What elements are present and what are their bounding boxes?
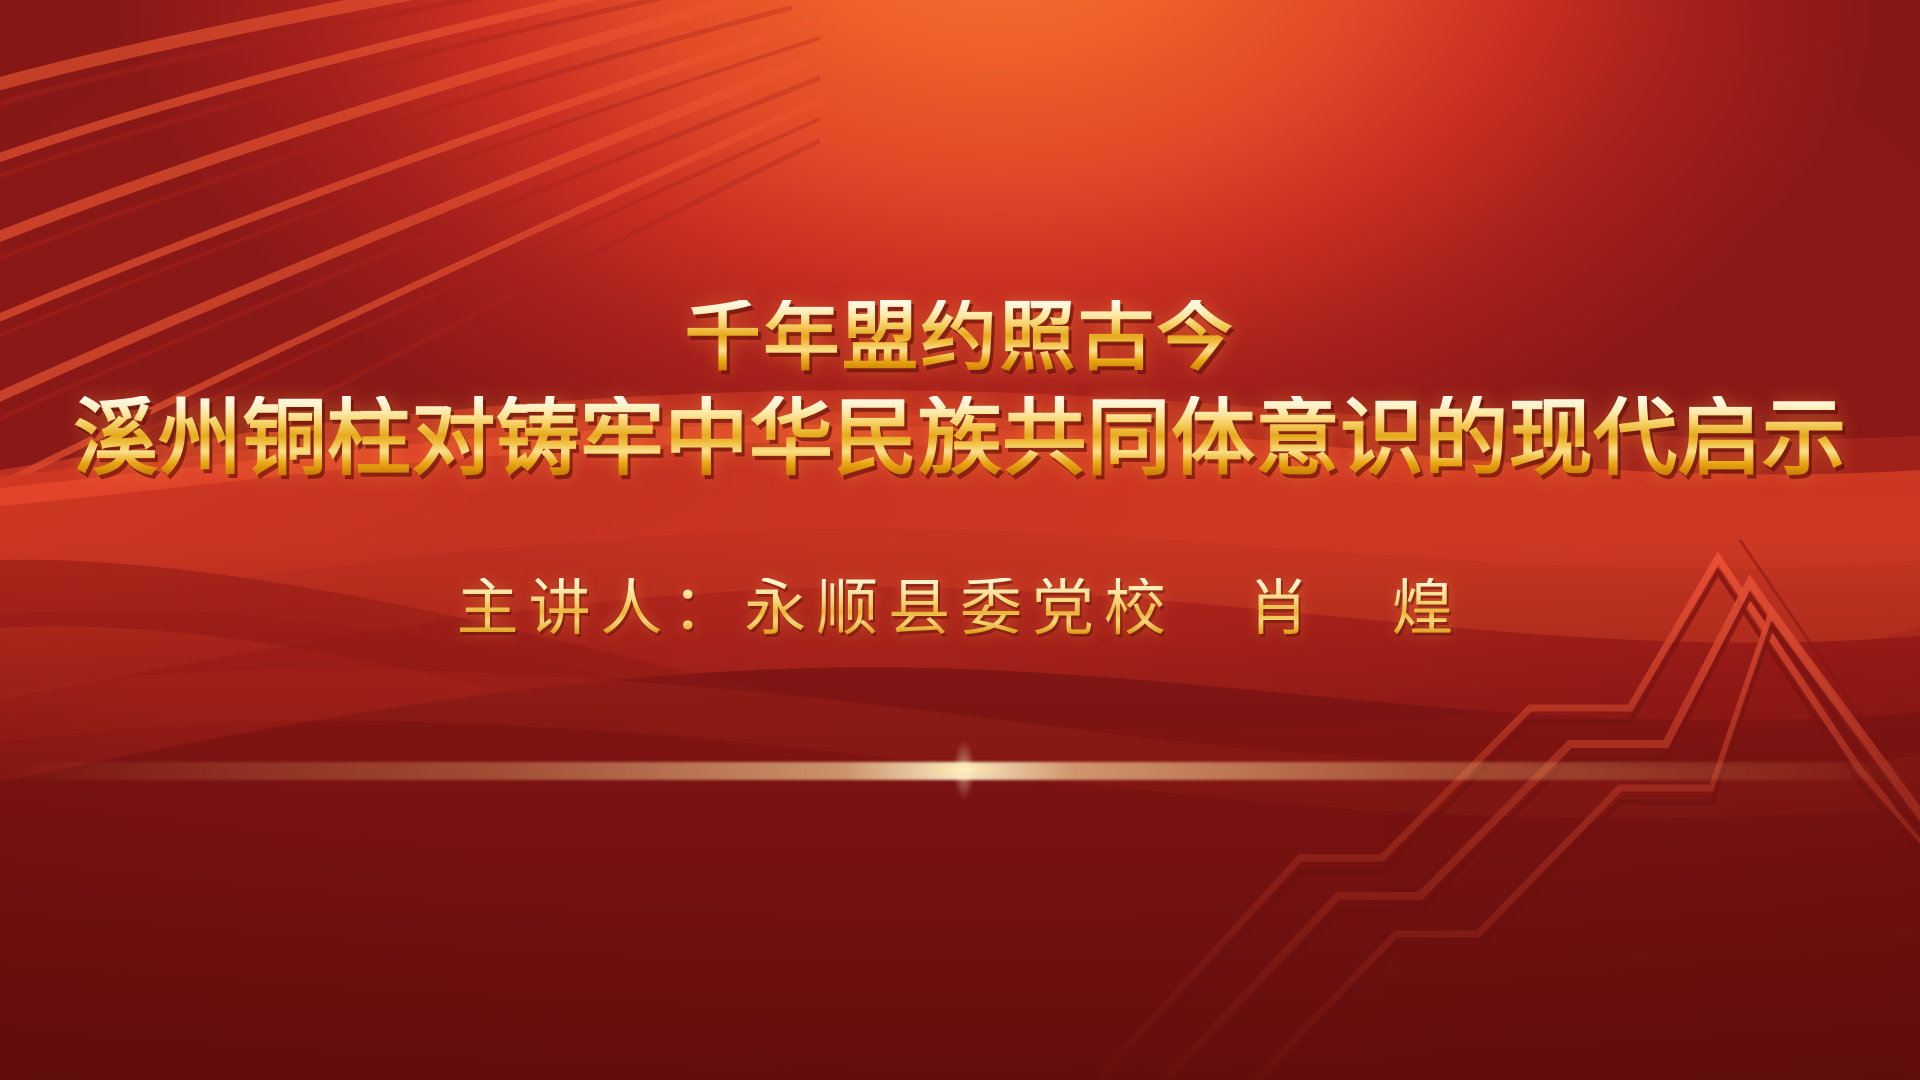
title-line-1: 千年盟约照古今 xyxy=(0,300,1920,376)
presenter-line: 主讲人：永顺县委党校 肖 煌 xyxy=(0,578,1920,640)
presentation-slide: 千年盟约照古今 溪州铜柱对铸牢中华民族共同体意识的现代启示 主讲人：永顺县委党校… xyxy=(0,0,1920,1080)
flare-core-glow xyxy=(904,730,1024,810)
vignette-overlay xyxy=(0,0,1920,1080)
title-line-2: 溪州铜柱对铸牢中华民族共同体意识的现代启示 xyxy=(0,396,1920,480)
